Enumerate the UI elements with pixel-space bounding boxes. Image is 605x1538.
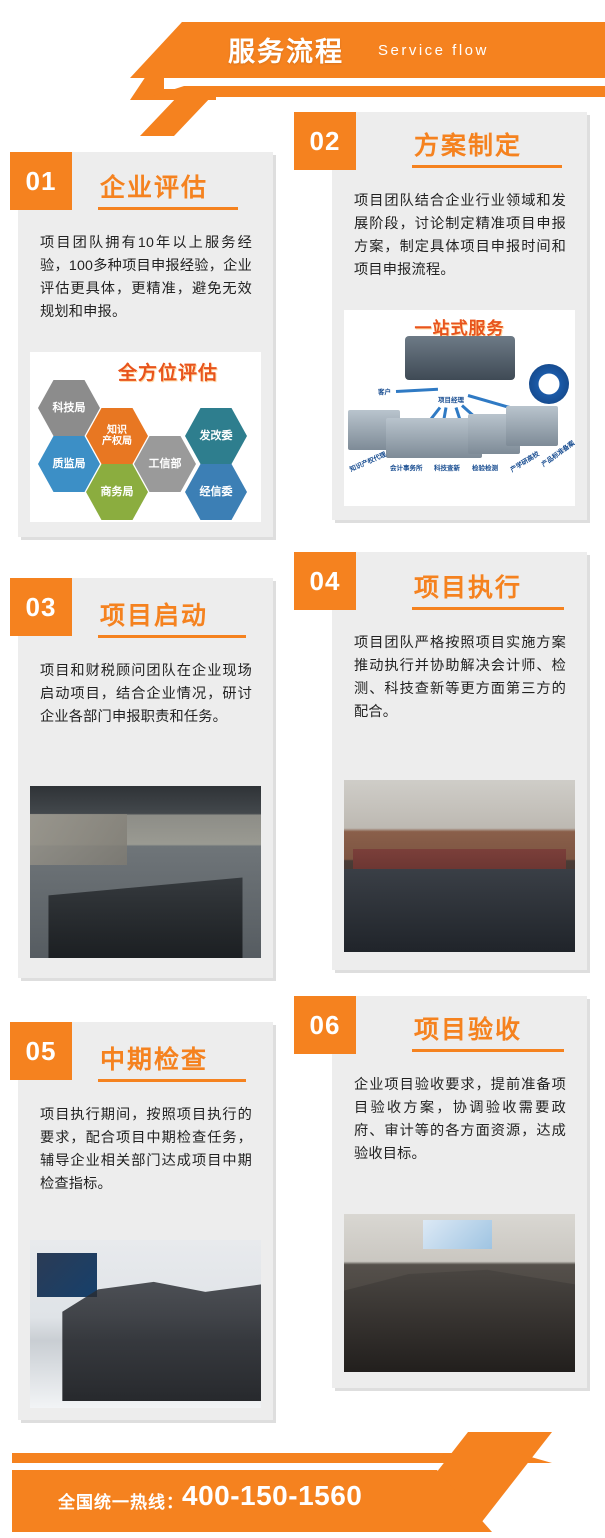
card-body-06: 企业项目验收要求，提前准备项目验收方案，协调验收需要政府、审计等的各方面资源，达… [354,1074,566,1166]
card-media-01: 全方位评估 科技局 知识产权局 质监局 商务局 工信部 发改委 经信委 [30,352,261,522]
header-angle-shape-secondary [140,96,230,136]
card-media-03 [30,786,261,958]
card-title-04: 项目执行 [414,568,522,604]
card-title-underline-01 [98,207,238,210]
card-body-03: 项目和财税顾问团队在企业现场启动项目，结合企业情况，研讨企业各部门申报职责和任务… [40,660,252,729]
card-badge-04: 04 [294,552,356,610]
card-title-06: 项目验收 [414,1010,522,1046]
card-title-underline-02 [412,165,562,168]
card-title-underline-05 [98,1079,246,1082]
step-card-03[interactable]: 项目启动 项目和财税顾问团队在企业现场启动项目，结合企业情况，研讨企业各部门申报… [18,578,273,978]
one-stop-hub-label: 项目经理 [438,394,464,404]
one-stop-hub-image [405,336,515,380]
hex-node-jingxin: 经信委 [185,464,247,520]
card-body-05: 项目执行期间，按照项目执行的要求，配合项目中期检查任务，辅导企业相关部门达成项目… [40,1104,252,1196]
card-title-03: 项目启动 [100,596,208,632]
card-title-underline-03 [98,635,246,638]
header-stripe [150,86,605,97]
page-header: 服务流程 Service flow [0,0,605,120]
header-banner [130,22,605,78]
card-title-01: 企业评估 [100,168,208,204]
hexagon-assessment-diagram: 全方位评估 科技局 知识产权局 质监局 商务局 工信部 发改委 经信委 [30,352,261,522]
step-card-05[interactable]: 中期检查 项目执行期间，按照项目执行的要求，配合项目中期检查任务，辅导企业相关部… [18,1022,273,1420]
card-body-02: 项目团队结合企业行业领域和发展阶段，讨论制定精准项目申报方案，制定具体项目申报时… [354,190,566,282]
one-stop-node-image [506,406,558,446]
card-media-04 [344,780,575,952]
card-body-04: 项目团队严格按照项目实施方案推动执行并协助解决会计师、检测、科技查新等更方面第三… [354,632,566,724]
hotline-label: 全国统一热线： [58,1488,184,1513]
hex-node-fagai: 发改委 [185,408,247,464]
page-subtitle: Service flow [378,42,489,59]
card-title-underline-04 [412,607,564,610]
one-stop-node-label: 知识产权代理 [348,449,388,474]
one-stop-node-label: 会计事务所 [390,462,423,472]
card-media-02: 一站式服务 客户 项目经理 知识产权代理 会计事务所 科技查新 检验检测 产学研… [344,310,575,506]
large-meeting-photo [344,1214,575,1372]
one-stop-client-label: 客户 [378,386,391,396]
one-stop-node-label: 科技查新 [434,462,460,472]
step-card-02[interactable]: 方案制定 项目团队结合企业行业领域和发展阶段，讨论制定精准项目申报方案，制定具体… [332,112,587,520]
one-stop-node-label: 检验检测 [472,462,498,472]
hotline-number[interactable]: 400-150-1560 [182,1480,362,1512]
one-stop-certification-seal-icon [529,364,569,404]
hexagon-diagram-title: 全方位评估 [118,358,218,385]
page-title: 服务流程 [228,30,344,69]
card-media-06 [344,1214,575,1372]
team-working-photo [344,780,575,952]
card-badge-03: 03 [10,578,72,636]
card-badge-05: 05 [10,1022,72,1080]
card-badge-02: 02 [294,112,356,170]
card-media-05 [30,1240,261,1408]
one-stop-arrow [396,388,438,393]
card-body-01: 项目团队拥有10年以上服务经验，100多种项目申报经验，企业评估更具体，更精准，… [40,232,252,324]
footer-stripe [12,1453,552,1463]
step-card-06[interactable]: 项目验收 企业项目验收要求，提前准备项目验收方案，协调验收需要政府、审计等的各方… [332,996,587,1388]
conference-room-photo [30,786,261,958]
step-card-04[interactable]: 项目执行 项目团队严格按照项目实施方案推动执行并协助解决会计师、检测、科技查新等… [332,552,587,970]
exhibition-tour-photo [30,1240,261,1408]
page-footer: 全国统一热线： 400-150-1560 [0,1420,605,1538]
card-badge-06: 06 [294,996,356,1054]
card-title-05: 中期检查 [100,1040,208,1076]
card-title-02: 方案制定 [414,126,522,162]
one-stop-service-diagram: 一站式服务 客户 项目经理 知识产权代理 会计事务所 科技查新 检验检测 产学研… [344,310,575,506]
card-title-underline-06 [412,1049,564,1052]
card-badge-01: 01 [10,152,72,210]
